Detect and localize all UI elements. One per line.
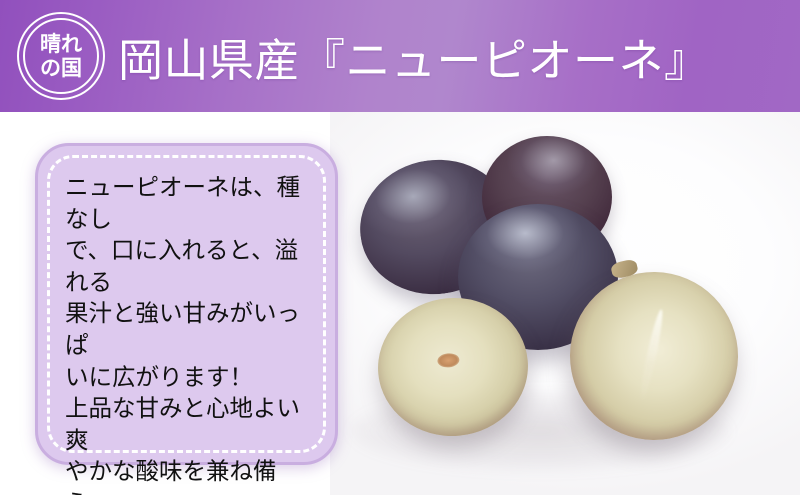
header-banner: 晴れ の国 岡山県産『ニューピオーネ』 <box>0 0 800 112</box>
cut-grape-seed-mark <box>437 353 460 369</box>
badge-line-1: 晴れ <box>40 32 82 56</box>
badge-text: 晴れ の国 <box>19 14 103 98</box>
description-card: ニューピオーネは、種なし で、口に入れると、溢れる 果汁と強い甘みがいっぱ いに… <box>35 143 338 465</box>
page-title: 岡山県産『ニューピオーネ』 <box>118 0 710 112</box>
cut-grape-vein <box>638 309 666 403</box>
badge-line-2: の国 <box>40 56 82 80</box>
hare-no-kuni-circle-badge-icon: 晴れ の国 <box>17 12 105 100</box>
description-body-text: ニューピオーネは、種なし で、口に入れると、溢れる 果汁と強い甘みがいっぱ いに… <box>65 172 321 495</box>
promo-banner-page: 晴れ の国 岡山県産『ニューピオーネ』 ニューピオーネは、種なし で、口に入れる… <box>0 0 800 495</box>
grape-product-photo <box>330 112 800 495</box>
